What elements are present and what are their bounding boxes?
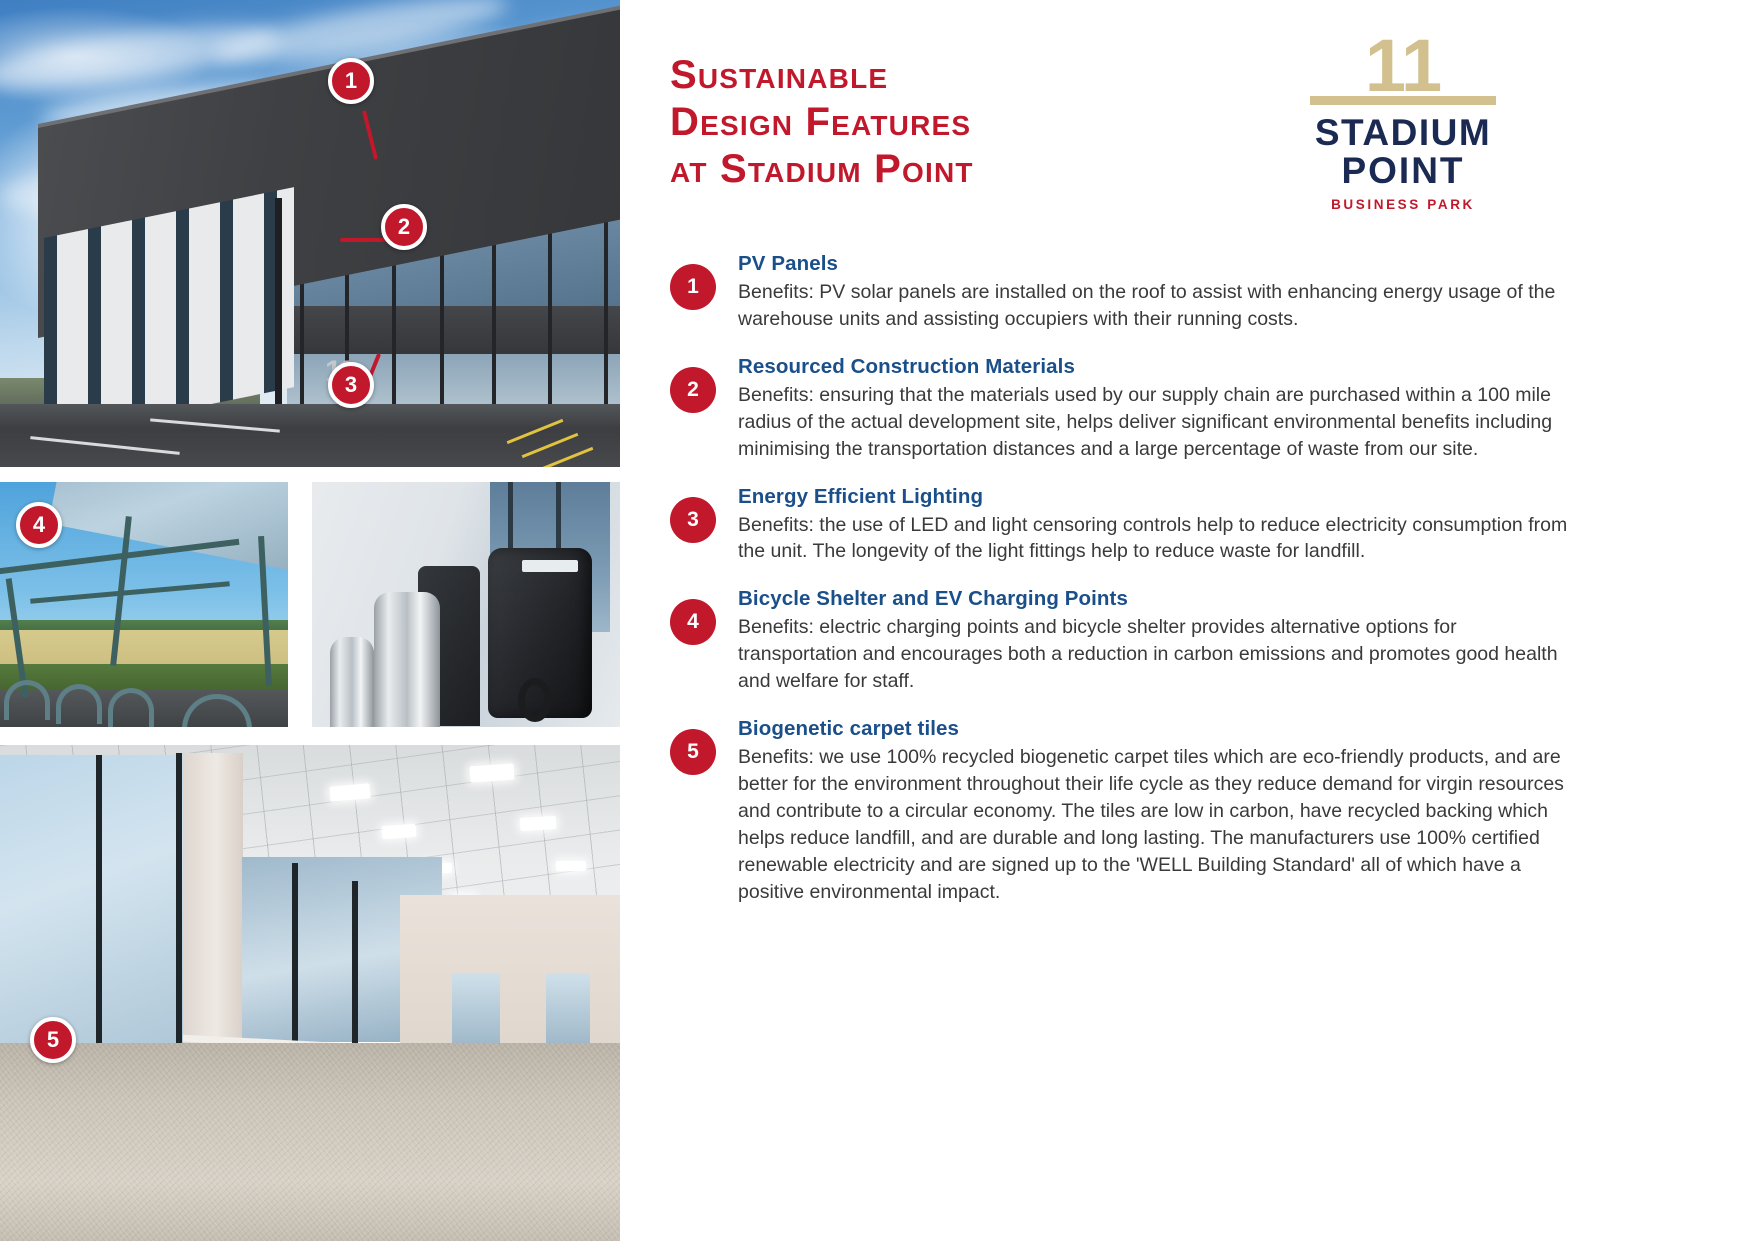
led-panel: [382, 824, 417, 839]
downpipe: [275, 198, 282, 426]
column-pier: [183, 753, 243, 1053]
carpet-tiles-floor: [0, 1043, 620, 1241]
feature-heading: Biogenetic carpet tiles: [738, 717, 1570, 741]
page-title: Sustainable Design Features at Stadium P…: [670, 52, 1230, 192]
callout-5[interactable]: 5: [30, 1017, 76, 1063]
logo-tagline: BUSINESS PARK: [1288, 197, 1518, 212]
feature-heading: Bicycle Shelter and EV Charging Points: [738, 587, 1570, 611]
callout-4[interactable]: 4: [16, 502, 62, 548]
photo-ev-charging: [312, 482, 620, 727]
feature-item: 1 PV Panels Benefits: PV solar panels ar…: [670, 252, 1570, 333]
logo-wordmark-line-2: POINT: [1288, 152, 1518, 190]
feature-text: Biogenetic carpet tiles Benefits: we use…: [738, 717, 1570, 905]
building-mass: 11: [0, 0, 620, 467]
bike-rack-hoop: [56, 684, 102, 724]
feature-text: Resourced Construction Materials Benefit…: [738, 355, 1570, 463]
photo-building-exterior: 11 1 2 3: [0, 0, 620, 467]
feature-body: Benefits: electric charging points and b…: [738, 614, 1570, 695]
feature-number-badge: 4: [670, 599, 716, 645]
content-column: Sustainable Design Features at Stadium P…: [620, 0, 1754, 1241]
feature-item: 2 Resourced Construction Materials Benef…: [670, 355, 1570, 463]
page-title-line-3: at Stadium Point: [670, 146, 1230, 193]
feature-body: Benefits: we use 100% recycled biogeneti…: [738, 744, 1570, 905]
feature-body: Benefits: PV solar panels are installed …: [738, 279, 1570, 333]
brochure-page: 11 1 2 3: [0, 0, 1754, 1241]
feature-item: 3 Energy Efficient Lighting Benefits: th…: [670, 485, 1570, 566]
callout-badge-label: 2: [381, 204, 427, 250]
photo-bicycle-shelter: 4: [0, 482, 288, 727]
feature-number-badge: 5: [670, 729, 716, 775]
logo-number: 11: [1288, 32, 1518, 100]
feature-heading: Energy Efficient Lighting: [738, 485, 1570, 509]
mullion: [292, 863, 298, 1043]
steel-bollard: [330, 637, 374, 727]
feature-number-badge: 2: [670, 367, 716, 413]
stadium-point-logo[interactable]: 11 STADIUM POINT BUSINESS PARK: [1288, 32, 1518, 212]
feature-text: Bicycle Shelter and EV Charging Points B…: [738, 587, 1570, 695]
page-title-line-1: Sustainable: [670, 52, 1230, 99]
floor-to-ceiling-glazing: [0, 755, 186, 1075]
feature-number-badge: 3: [670, 497, 716, 543]
led-panel: [556, 861, 586, 871]
photo-column: 11 1 2 3: [0, 0, 620, 1241]
mullion: [176, 753, 182, 1071]
page-title-line-2: Design Features: [670, 99, 1230, 146]
feature-body: Benefits: ensuring that the materials us…: [738, 382, 1570, 463]
callout-badge-label: 1: [328, 58, 374, 104]
callout-2[interactable]: 2: [381, 204, 427, 250]
mullion: [352, 881, 358, 1043]
feature-text: PV Panels Benefits: PV solar panels are …: [738, 252, 1570, 333]
feature-number-badge: 1: [670, 264, 716, 310]
bike-rack-hoop: [4, 680, 50, 720]
feature-list: 1 PV Panels Benefits: PV solar panels ar…: [670, 252, 1570, 928]
led-panel: [469, 763, 514, 782]
led-panel: [520, 816, 557, 831]
bike-rack-hoop: [108, 688, 154, 727]
feature-heading: PV Panels: [738, 252, 1570, 276]
callout-badge-label: 3: [328, 362, 374, 408]
logo-wordmark-line-1: STADIUM: [1288, 114, 1518, 152]
feature-text: Energy Efficient Lighting Benefits: the …: [738, 485, 1570, 566]
feature-heading: Resourced Construction Materials: [738, 355, 1570, 379]
carpet-texture: [0, 1043, 620, 1241]
mullion: [96, 755, 102, 1065]
far-window: [452, 973, 500, 1045]
steel-bollard: [374, 592, 440, 727]
feature-body: Benefits: the use of LED and light censo…: [738, 512, 1570, 566]
callout-1[interactable]: 1: [328, 58, 374, 104]
far-window: [546, 973, 590, 1045]
callout-3[interactable]: 3: [328, 362, 374, 408]
feature-item: 5 Biogenetic carpet tiles Benefits: we u…: [670, 717, 1570, 905]
callout-badge-label: 4: [16, 502, 62, 548]
feature-item: 4 Bicycle Shelter and EV Charging Points…: [670, 587, 1570, 695]
photo-office-interior: 5: [0, 745, 620, 1241]
callout-badge-label: 5: [30, 1017, 76, 1063]
charger-display-strip: [522, 560, 578, 572]
